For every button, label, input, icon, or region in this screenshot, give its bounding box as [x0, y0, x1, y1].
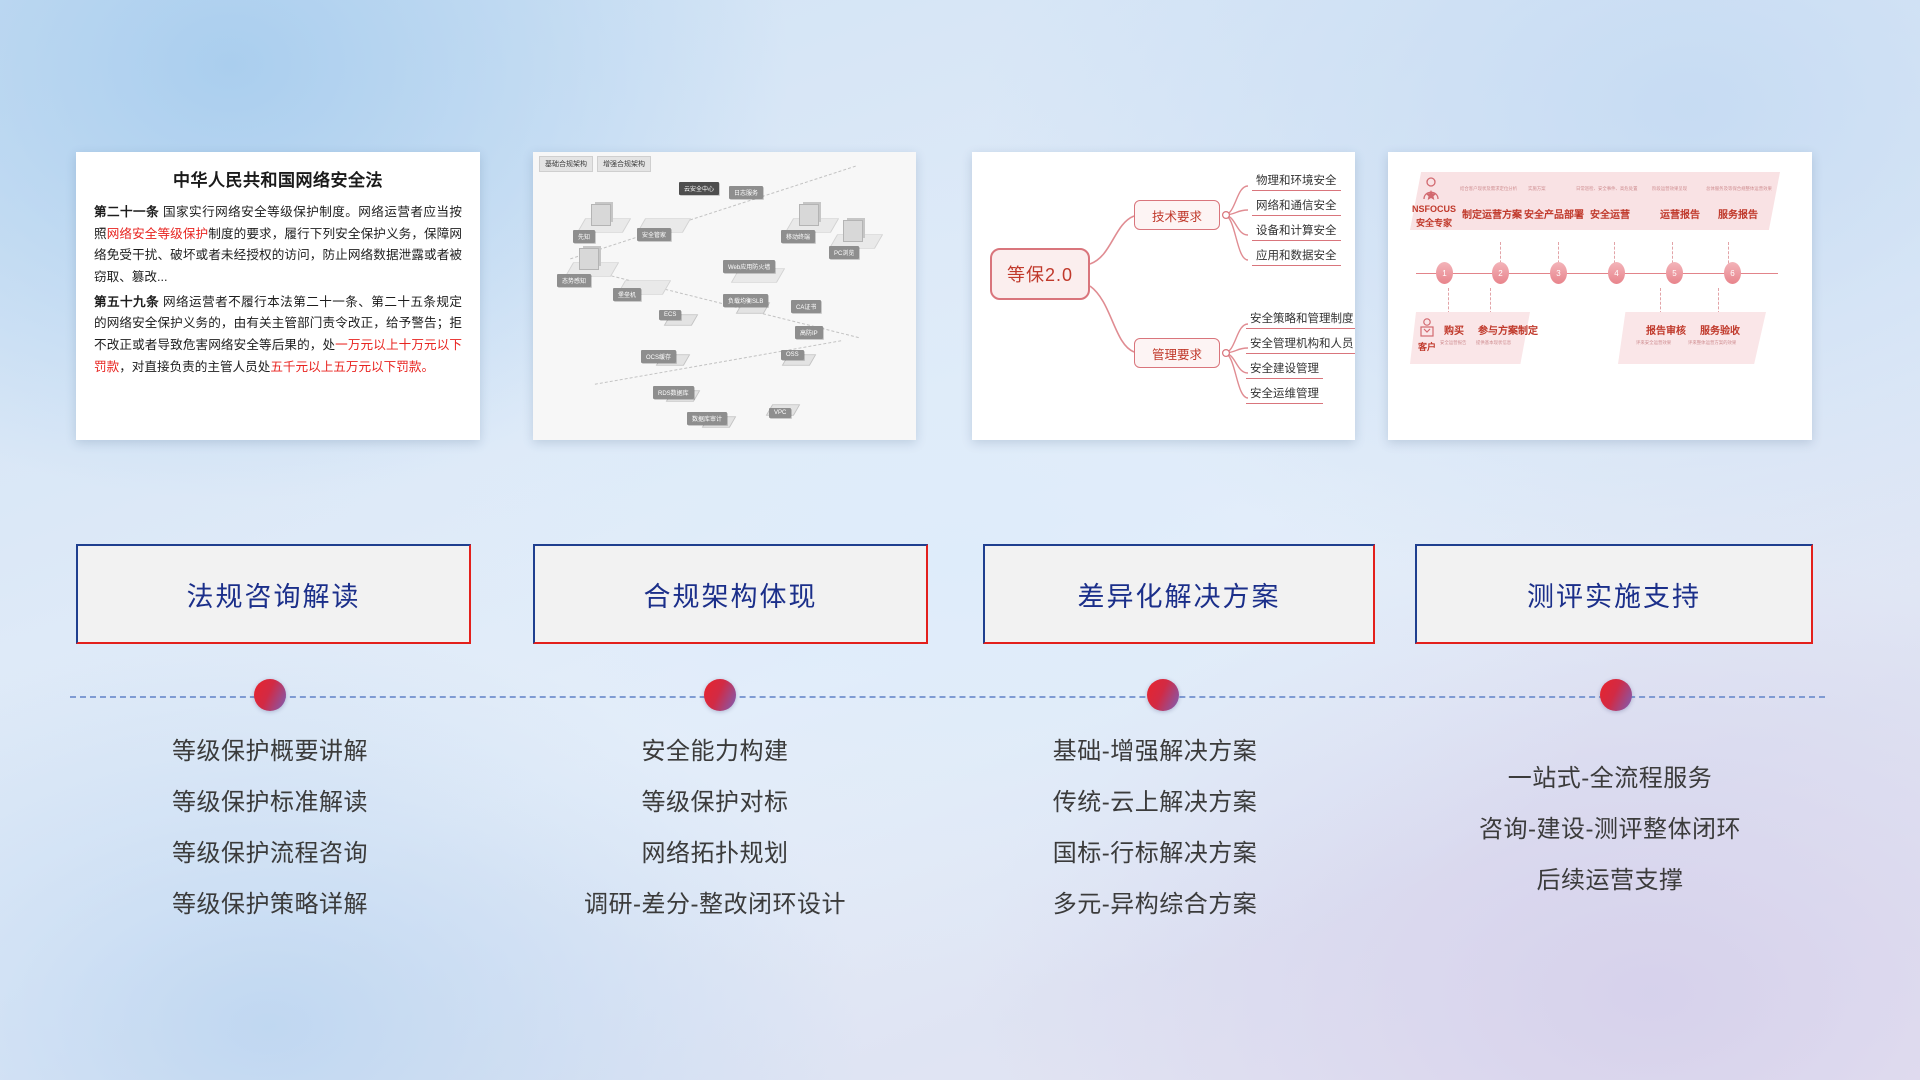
step-sub: 阶段运营效果呈现 [1652, 186, 1687, 192]
node-rds-database: RDS数据库 [653, 386, 694, 399]
article-59-text-b: ，对直接负责的主管人员处 [119, 360, 270, 374]
list-item: 一站式-全流程服务 [1395, 767, 1825, 791]
mindmap-leaf: 安全建设管理 [1246, 360, 1323, 379]
customer-label: 客户 [1418, 340, 1436, 353]
step-title: 参与方案制定 [1478, 322, 1538, 337]
node-xianzhi: 先知 [573, 230, 595, 243]
section-headers-row: 法规咨询解读 合规架构体现 差异化解决方案 测评实施支持 [0, 544, 1920, 648]
node-ca-certificate: CA证书 [791, 300, 821, 313]
list-item: 国标-行标解决方案 [945, 842, 1365, 866]
list-item: 多元-异构综合方案 [945, 893, 1365, 917]
timeline-step-number: 3 [1550, 262, 1567, 284]
node-pc-browse: PC浏览 [829, 246, 859, 259]
list-item: 调研-差分-整改闭环设计 [505, 893, 925, 917]
step-title: 安全运营 [1590, 206, 1630, 221]
node-bastion-host: 堡垒机 [613, 288, 641, 301]
customer-person-icon [1418, 318, 1436, 338]
article-21-highlight: 网络安全等级保护 [107, 227, 209, 241]
architecture-tabs: 基础合规架构 增强合规架构 [539, 156, 651, 172]
server-icon [591, 204, 611, 226]
timeline-connector [1660, 288, 1661, 314]
timeline-step-number: 5 [1666, 262, 1683, 284]
expert-label-line2: 安全专家 [1416, 216, 1452, 229]
list-item: 后续运营支撑 [1395, 869, 1825, 893]
header-box-differentiated-solution[interactable]: 差异化解决方案 [983, 544, 1375, 644]
expert-person-icon [1420, 177, 1442, 201]
tab-enhanced-architecture[interactable]: 增强合规架构 [597, 156, 651, 172]
timeline-marker-1[interactable] [254, 679, 286, 711]
step-sub: 评来安全运营效果 [1636, 340, 1671, 346]
node-oss: OSS [781, 350, 804, 360]
node-vpc: VPC [769, 408, 791, 418]
mindmap-leaf: 安全运维管理 [1246, 385, 1323, 404]
article-21-label: 第二十一条 [94, 205, 159, 219]
law-document: 中华人民共和国网络安全法 第二十一条 国家实行网络安全等级保护制度。网络运营者应… [76, 152, 480, 391]
mindmap-leaf: 安全策略和管理制度 [1246, 310, 1355, 329]
server-icon [843, 220, 863, 242]
mindmap-leaf: 网络和通信安全 [1252, 197, 1341, 216]
step-sub: 提供基本现状信息 [1476, 340, 1511, 346]
node-slb: 负载均衡SLB [723, 294, 768, 307]
step-title: 购买 [1444, 322, 1464, 337]
step-title: 运营报告 [1660, 206, 1700, 221]
top-band [1410, 172, 1780, 230]
feature-cards-row: 中华人民共和国网络安全法 第二十一条 国家实行网络安全等级保护制度。网络运营者应… [0, 152, 1920, 452]
node-situational-awareness: 态势感知 [557, 274, 591, 287]
step-sub: 评来整体运营方案的效果 [1688, 340, 1736, 346]
timeline-step-number: 2 [1492, 262, 1509, 284]
mindmap-leaf: 设备和计算安全 [1252, 222, 1341, 241]
mindmap-leaf: 应用和数据安全 [1252, 247, 1341, 266]
node-ecs: ECS [659, 310, 681, 320]
step-title: 制定运营方案 [1462, 206, 1522, 221]
node-cloud-security-center: 云安全中心 [679, 182, 719, 195]
expert-label-line1: NSFOCUS [1412, 204, 1456, 214]
step-sub: 总体服务及等保合规整体运营效果 [1706, 186, 1772, 192]
architecture-diagram: 基础合规架构 增强合规架构 云安全中心 先知 态势感知 堡垒机 安全管家 ECS… [533, 152, 916, 440]
list-item: 咨询-建设-测评整体闭环 [1395, 818, 1825, 842]
node-mobile-terminal: 移动终端 [781, 230, 815, 243]
timeline-marker-3[interactable] [1147, 679, 1179, 711]
list-item: 等级保护流程咨询 [60, 842, 480, 866]
node-security-manager: 安全管家 [637, 228, 671, 241]
timeline-marker-2[interactable] [704, 679, 736, 711]
card-nsfocus-service-timeline: NSFOCUS 安全专家 结合客户现状及需求定位分析 制定运营方案 实施方案 安… [1388, 152, 1812, 440]
list-item: 等级保护标准解读 [60, 791, 480, 815]
detail-list-regulation-consulting: 等级保护概要讲解 等级保护标准解读 等级保护流程咨询 等级保护策略详解 [60, 740, 480, 944]
node-high-defense-ip: 高防IP [795, 326, 823, 339]
step-sub: 安全运营报告 [1440, 340, 1466, 346]
server-icon [579, 248, 599, 270]
list-item: 基础-增强解决方案 [945, 740, 1365, 764]
detail-list-assessment-support: 一站式-全流程服务 咨询-建设-测评整体闭环 后续运营支撑 [1395, 767, 1825, 920]
list-item: 网络拓扑规划 [505, 842, 925, 866]
header-box-regulation-consulting[interactable]: 法规咨询解读 [76, 544, 471, 644]
node-web-application-firewall: Web应用防火墙 [723, 260, 775, 273]
mindmap-root: 等保2.0 [990, 248, 1090, 300]
step-sub: 日常巡检、安全事件、高危处置 [1576, 186, 1637, 192]
timeline-connector [1448, 288, 1449, 314]
detail-list-compliance-architecture: 安全能力构建 等级保护对标 网络拓扑规划 调研-差分-整改闭环设计 [505, 740, 925, 944]
timeline-step-number: 1 [1436, 262, 1453, 284]
list-item: 等级保护策略详解 [60, 893, 480, 917]
timeline-connector [1718, 288, 1719, 314]
card-mindmap-dengbao: 等保2.0 技术要求 物理和环境安全 网络和通信安全 设备和计算安全 应用和数据… [972, 152, 1355, 440]
list-item: 等级保护概要讲解 [60, 740, 480, 764]
step-sub: 结合客户现状及需求定位分析 [1460, 186, 1517, 192]
list-item: 等级保护对标 [505, 791, 925, 815]
mindmap-leaf: 安全管理机构和人员 [1246, 335, 1355, 354]
timeline-step-number: 6 [1724, 262, 1741, 284]
step-title: 安全产品部署 [1524, 206, 1584, 221]
tab-basic-architecture[interactable]: 基础合规架构 [539, 156, 593, 172]
list-item: 传统-云上解决方案 [945, 791, 1365, 815]
card-compliance-architecture: 基础合规架构 增强合规架构 云安全中心 先知 态势感知 堡垒机 安全管家 ECS… [533, 152, 916, 440]
header-box-assessment-support[interactable]: 测评实施支持 [1415, 544, 1813, 644]
law-title: 中华人民共和国网络安全法 [94, 166, 462, 191]
timeline-step-number: 4 [1608, 262, 1625, 284]
mindmap-branch-management: 管理要求 [1134, 338, 1220, 368]
node-log-service: 日志服务 [729, 186, 763, 199]
header-box-compliance-architecture[interactable]: 合规架构体现 [533, 544, 928, 644]
mindmap-leaf: 物理和环境安全 [1252, 172, 1341, 191]
step-title: 服务报告 [1718, 206, 1758, 221]
node-database-audit: 数据库审计 [687, 412, 727, 425]
article-59-label: 第五十九条 [94, 295, 159, 309]
mindmap-branch-technical: 技术要求 [1134, 200, 1220, 230]
node-ocs-cache: OCS缓存 [641, 350, 676, 363]
law-article-21: 第二十一条 国家实行网络安全等级保护制度。网络运营者应当按照网络安全等级保护制度… [94, 202, 462, 289]
mindmap: 等保2.0 技术要求 物理和环境安全 网络和通信安全 设备和计算安全 应用和数据… [972, 152, 1355, 440]
card-cybersecurity-law: 中华人民共和国网络安全法 第二十一条 国家实行网络安全等级保护制度。网络运营者应… [76, 152, 480, 440]
server-icon [799, 204, 819, 226]
law-article-59: 第五十九条 网络运营者不履行本法第二十一条、第二十五条规定的网络安全保护义务的，… [94, 292, 462, 379]
bottom-band-right [1618, 312, 1766, 364]
detail-list-differentiated-solution: 基础-增强解决方案 传统-云上解决方案 国标-行标解决方案 多元-异构综合方案 [945, 740, 1365, 944]
step-title: 服务验收 [1700, 322, 1740, 337]
timeline-marker-4[interactable] [1600, 679, 1632, 711]
timeline-dashed-axis [70, 696, 1825, 698]
nsfocus-timeline: NSFOCUS 安全专家 结合客户现状及需求定位分析 制定运营方案 实施方案 安… [1388, 152, 1812, 440]
list-item: 安全能力构建 [505, 740, 925, 764]
article-59-highlight-2: 五千元以上五万元以下罚款。 [270, 360, 434, 374]
timeline-connector [1490, 288, 1491, 314]
step-title: 报告审核 [1646, 322, 1686, 337]
step-sub: 实施方案 [1528, 186, 1546, 192]
